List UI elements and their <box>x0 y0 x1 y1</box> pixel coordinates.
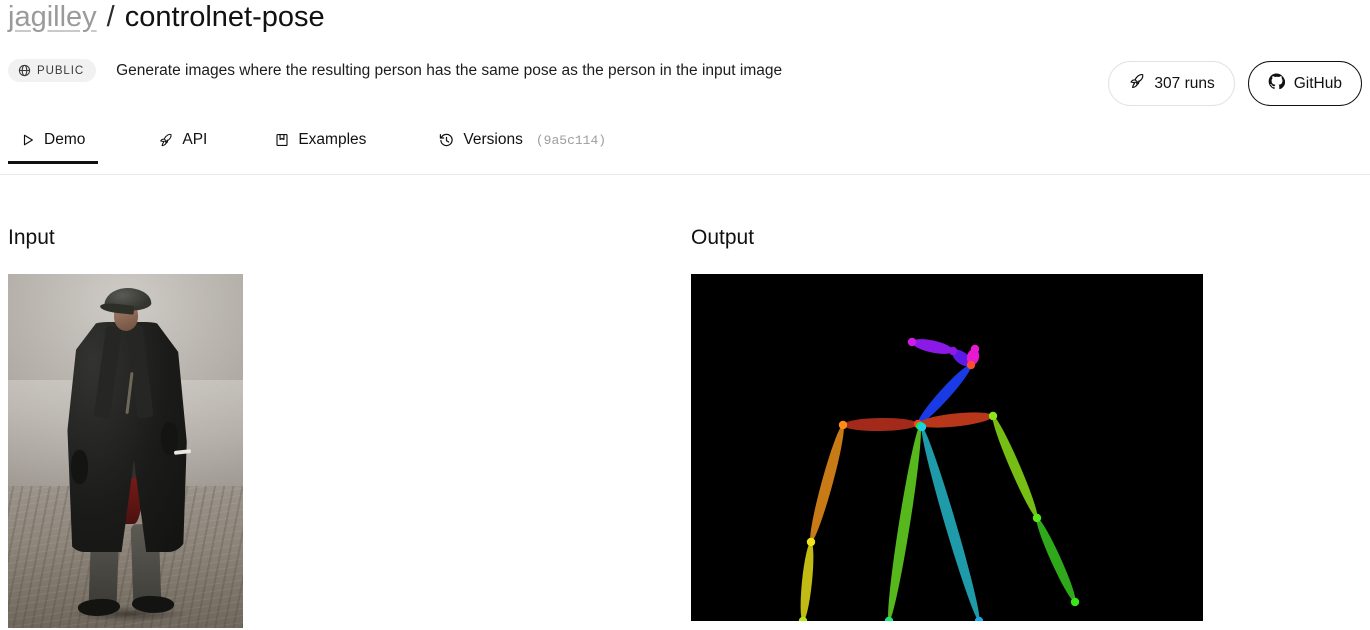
pose-keypoint-l-shoulder <box>989 412 997 420</box>
pose-keypoint-l-wrist <box>1071 598 1079 606</box>
model-page: jagilley / controlnet-pose PUBLIC Genera… <box>0 0 1370 630</box>
version-hash: (9a5c114) <box>536 133 606 148</box>
tab-examples-label: Examples <box>298 131 366 149</box>
pose-limb-lelbow-to-lwrist <box>1032 516 1079 604</box>
pose-keypoint-r-elbow <box>807 538 815 546</box>
title-separator: / <box>107 0 115 34</box>
tab-demo[interactable]: Demo <box>21 131 85 164</box>
input-panel: Input <box>8 225 243 628</box>
pose-keypoint-r-ear <box>971 345 979 353</box>
page-title: jagilley / controlnet-pose <box>8 0 325 34</box>
pose-keypoint-r-eye <box>908 338 916 346</box>
input-heading: Input <box>8 225 243 251</box>
pose-limb-lshoulder-to-lelbow <box>988 414 1041 520</box>
book-icon <box>275 133 289 147</box>
play-icon <box>21 133 35 147</box>
tab-versions-label: Versions <box>463 131 522 149</box>
pose-keypoint-nose <box>967 361 975 369</box>
owner-link[interactable]: jagilley <box>8 0 97 34</box>
model-description: Generate images where the resulting pers… <box>116 61 782 81</box>
pose-limb-neck-to-rshoulder <box>843 418 918 432</box>
pose-keypoint-r-shoulder <box>839 421 847 429</box>
output-heading: Output <box>691 225 1203 251</box>
github-button[interactable]: GitHub <box>1248 61 1362 106</box>
tab-versions[interactable]: Versions (9a5c114) <box>439 131 606 164</box>
runs-pill[interactable]: 307 runs <box>1108 61 1234 106</box>
tab-api[interactable]: API <box>158 131 207 164</box>
pose-limb-neck-to-rhip <box>884 425 926 621</box>
pose-keypoint-l-elbow <box>1033 514 1041 522</box>
tab-demo-label: Demo <box>44 131 85 149</box>
pose-keypoint-r-knee <box>885 617 893 621</box>
output-image[interactable] <box>691 274 1203 621</box>
visibility-label: PUBLIC <box>37 65 84 77</box>
history-icon <box>439 133 454 148</box>
rocket-icon <box>158 133 173 148</box>
pose-skeleton <box>691 274 1203 621</box>
pose-limbs <box>798 336 1080 621</box>
tab-bar: Demo API Examples <box>0 131 1370 175</box>
pose-limb-leye-to-lear <box>911 336 955 357</box>
github-label: GitHub <box>1294 76 1342 92</box>
pose-keypoint-l-eye <box>949 347 957 355</box>
figure-left-hand <box>71 450 88 484</box>
pose-limb-rshoulder-to-relbow <box>806 424 849 544</box>
input-image[interactable] <box>8 274 243 628</box>
tab-api-label: API <box>182 131 207 149</box>
tab-examples[interactable]: Examples <box>275 131 366 164</box>
pose-keypoint-l-knee <box>975 617 983 621</box>
visibility-badge: PUBLIC <box>8 59 96 82</box>
github-icon <box>1268 73 1285 94</box>
output-panel: Output <box>691 225 1203 621</box>
rocket-icon <box>1128 73 1145 94</box>
pose-limb-relbow-to-rwrist <box>798 541 816 621</box>
model-name: controlnet-pose <box>125 0 325 34</box>
pose-keypoint-l-hip <box>918 423 926 431</box>
globe-icon <box>18 64 31 77</box>
pose-keypoint-r-wrist <box>799 617 807 621</box>
pose-limb-neck-to-lhip <box>917 425 985 621</box>
header-actions: 307 runs GitHub <box>1108 61 1362 106</box>
runs-label: 307 runs <box>1154 76 1214 92</box>
